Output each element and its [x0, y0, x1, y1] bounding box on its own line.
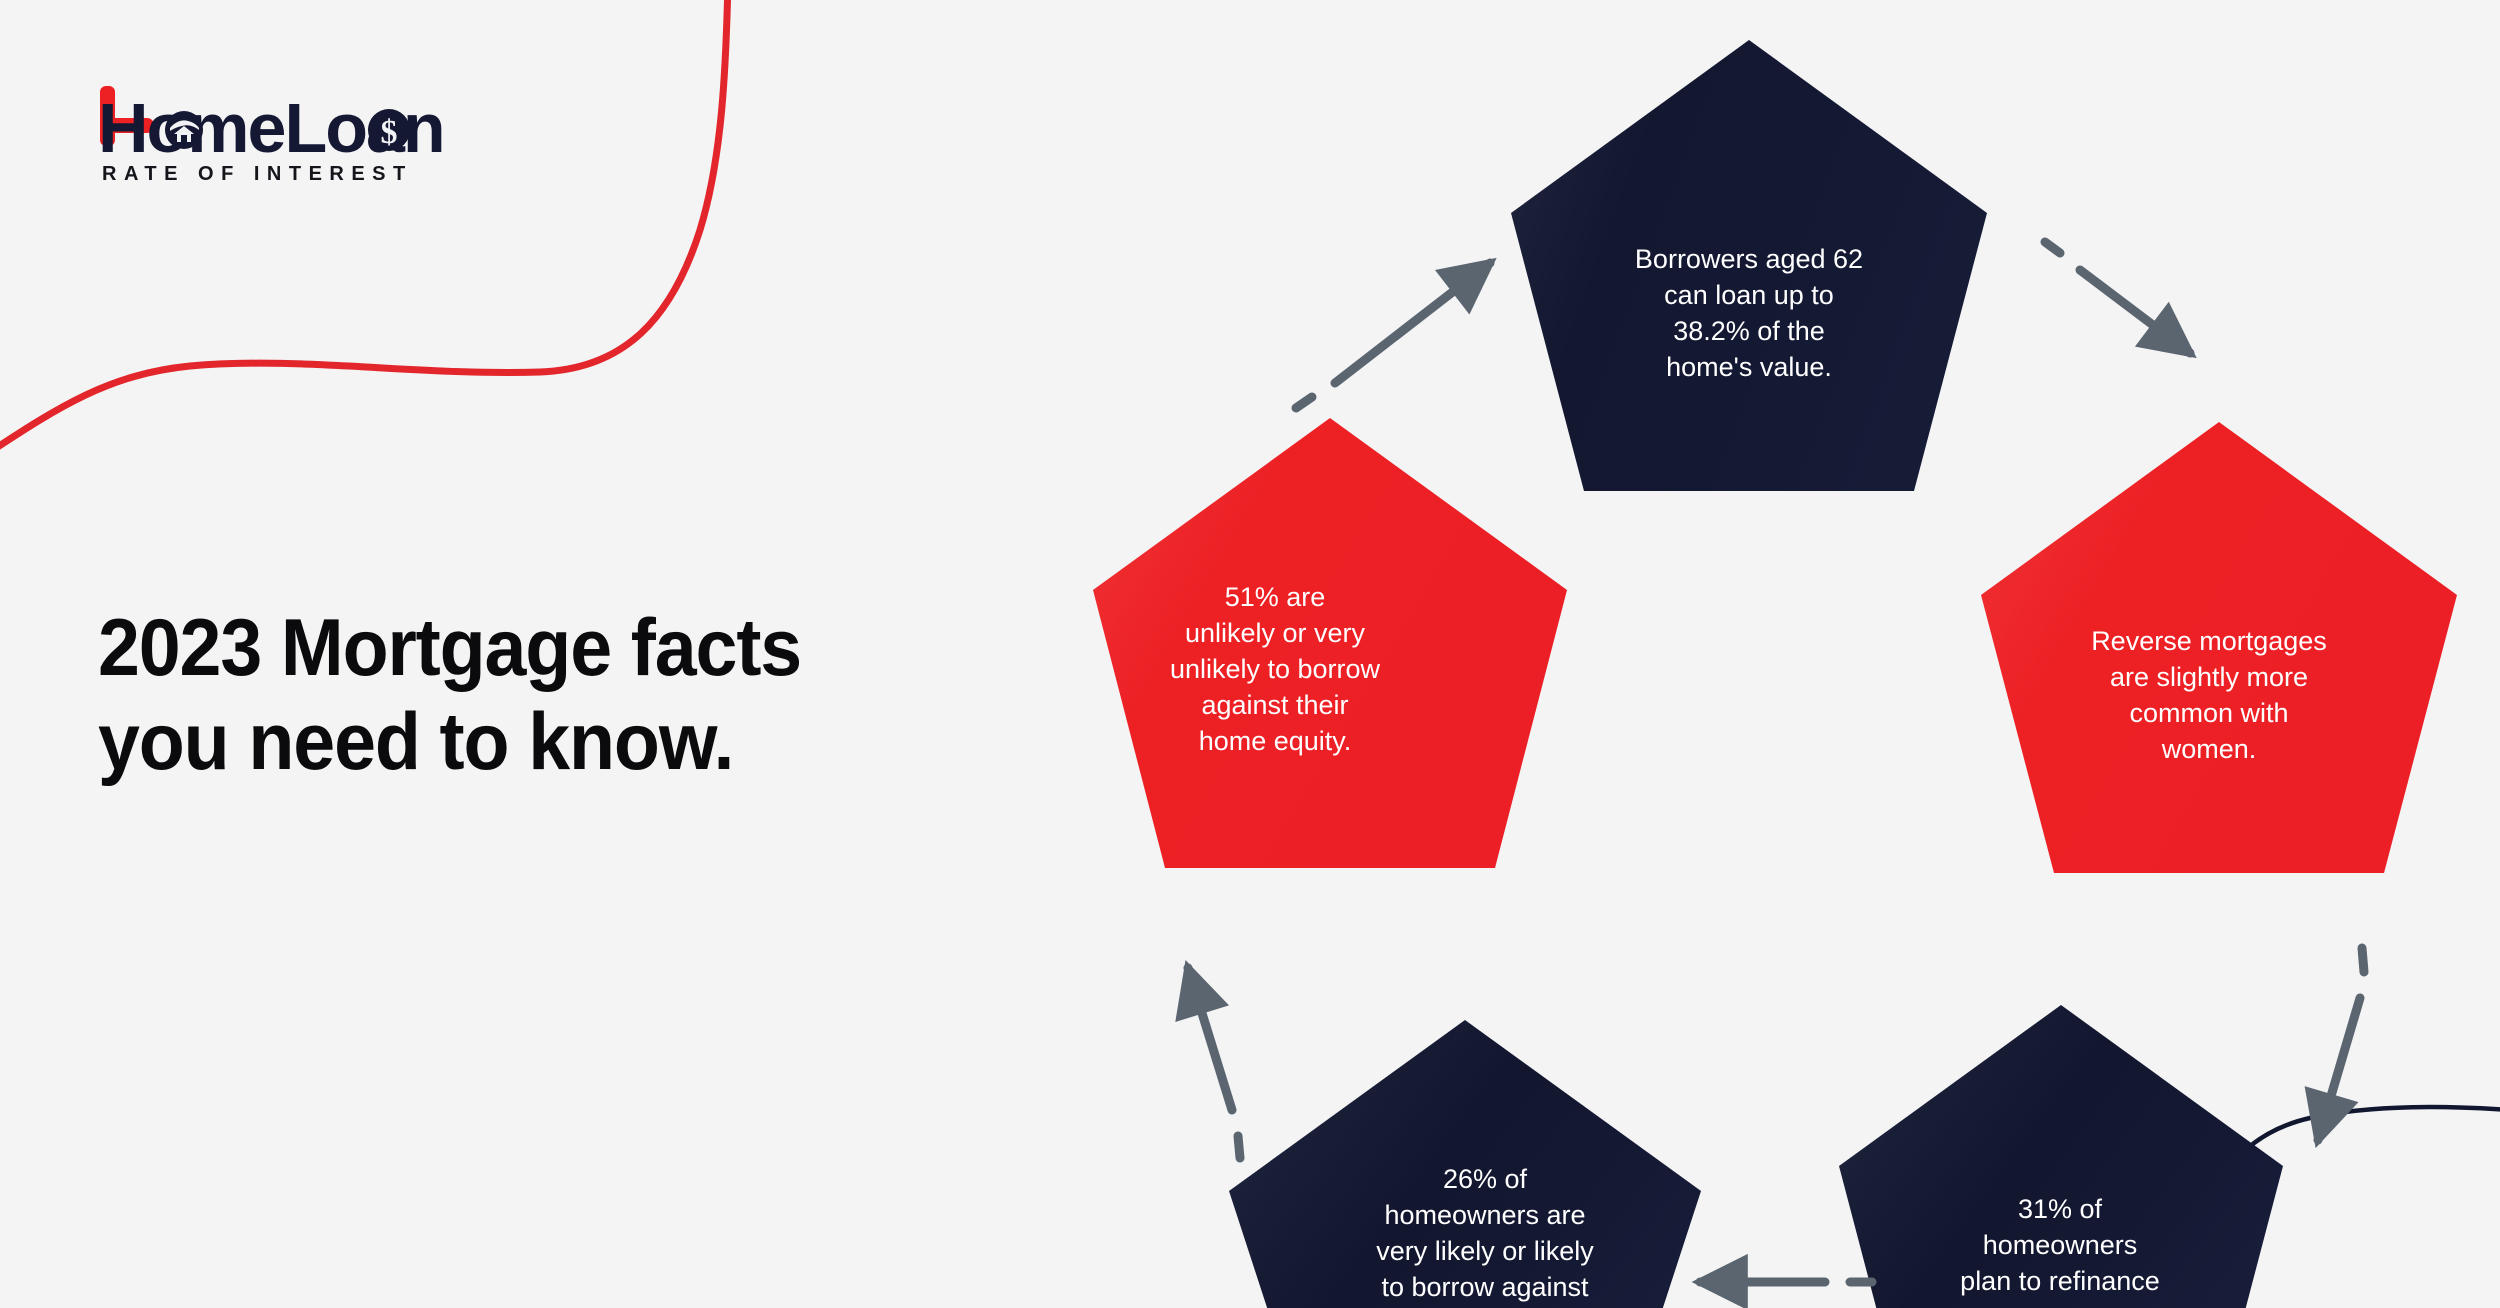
- page-headline: 2023 Mortgage facts you need to know.: [98, 602, 1028, 790]
- pentagon-node-bottom-left[interactable]: [1229, 1020, 1701, 1308]
- pentagon-cycle-diagram: Borrowers aged 62 can loan up to 38.2% o…: [1060, 20, 2500, 1308]
- pentagon-node-top[interactable]: [1511, 40, 1987, 491]
- logo-tagline: RATE OF INTEREST: [102, 163, 413, 185]
- brand-logo[interactable]: HomeLoan $ RATE OF INTEREST HomeLoan Rat…: [96, 78, 556, 188]
- arrow-top-to-right: [2045, 242, 2190, 353]
- dollar-sign-icon: $: [368, 109, 410, 151]
- arrow-left-to-top: [1296, 263, 1490, 408]
- pentagon-node-right[interactable]: [1981, 422, 2457, 873]
- pentagon-node-left[interactable]: [1093, 418, 1567, 868]
- arrow-bottom-left-to-left: [1188, 968, 1240, 1158]
- house-icon: [165, 111, 203, 149]
- red-decorative-curve: [0, 0, 800, 480]
- infographic-canvas: HomeLoan $ RATE OF INTEREST HomeLoan Rat…: [0, 0, 2500, 1308]
- svg-text:$: $: [381, 114, 398, 151]
- pentagon-node-bottom-right[interactable]: [1839, 1005, 2283, 1308]
- arrow-right-to-bottom-right: [2318, 948, 2364, 1140]
